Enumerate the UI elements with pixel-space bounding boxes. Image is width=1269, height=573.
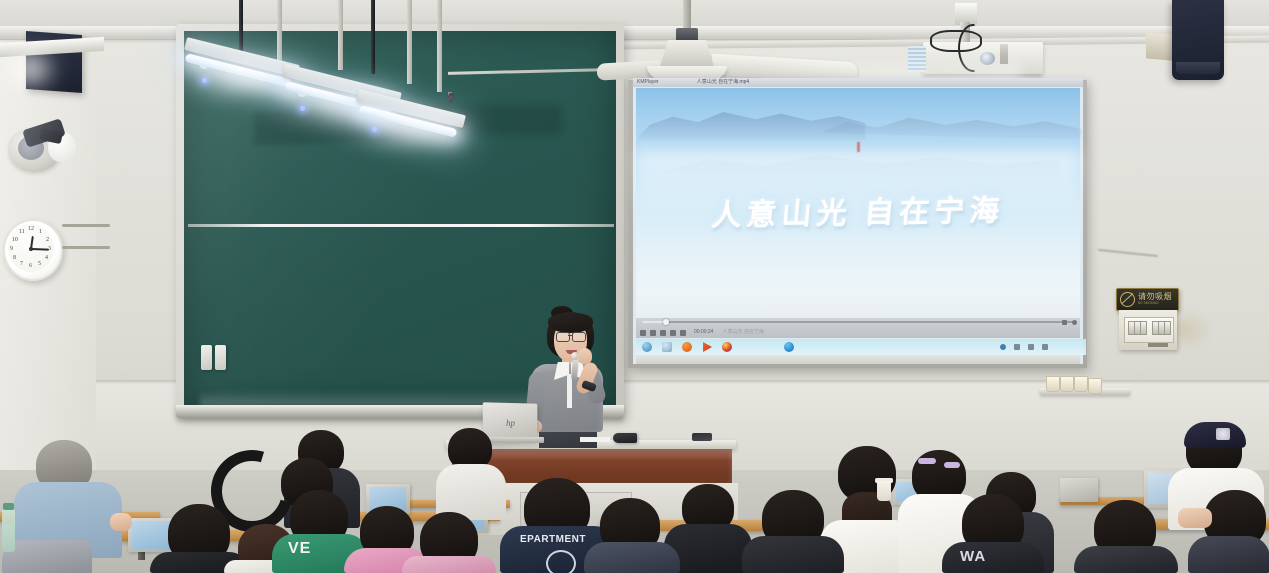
chalk-eraser[interactable] xyxy=(201,345,212,370)
water-bottle-cap xyxy=(3,503,14,510)
student-body-front-6 xyxy=(742,536,844,573)
folder-icon[interactable] xyxy=(1014,344,1020,350)
wall-pipe-lower xyxy=(62,246,110,249)
blackboard-hook xyxy=(448,93,454,102)
player-window-title: 人意山光 自在宁海.mp4 xyxy=(697,80,750,85)
student-laptop-6[interactable] xyxy=(1060,478,1098,502)
electrical-panel-label xyxy=(1148,343,1168,347)
blackboard-divider-line xyxy=(188,224,614,227)
clock-number-11: 11 xyxy=(19,229,25,235)
student-body-front-7 xyxy=(942,542,1044,573)
player-fullscreen-button[interactable] xyxy=(1062,320,1067,325)
wall-pipe-upper xyxy=(62,224,110,227)
no-smoking-icon xyxy=(1120,292,1135,307)
ceiling-fan-mount xyxy=(676,28,698,42)
shelf-cup-2 xyxy=(1060,376,1074,392)
chrome-icon[interactable] xyxy=(722,342,732,352)
shelf-cup-1 xyxy=(1046,376,1060,392)
slide-calligraphy-title: 人意山光 自在宁海 xyxy=(633,186,1083,234)
lamp-rod-4 xyxy=(437,0,442,92)
player-stop-button[interactable] xyxy=(650,330,656,336)
clock-tray-icon[interactable] xyxy=(1042,344,1048,350)
student-bag-elder xyxy=(2,540,92,573)
podium-smartphone[interactable] xyxy=(692,433,712,441)
projector-cable-loop xyxy=(930,30,982,52)
chalk-eraser-secondary[interactable] xyxy=(215,345,226,370)
clock-number-9: 9 xyxy=(10,246,13,252)
lamp-pole-2 xyxy=(371,0,375,74)
clock-number-6: 6 xyxy=(29,263,32,269)
student-hand-elder xyxy=(110,513,132,531)
student-body-front-4 xyxy=(402,556,496,573)
teacher-hair-fringe xyxy=(548,313,593,333)
player-app-name: KMPlayer xyxy=(637,80,659,85)
start-orb-icon[interactable] xyxy=(642,342,652,352)
water-bottle xyxy=(2,508,15,552)
podium-highlight xyxy=(452,449,732,461)
player-seek-handle[interactable] xyxy=(663,319,669,325)
student-body-front-9 xyxy=(1188,536,1269,573)
teacher-glasses-bridge xyxy=(568,335,572,336)
lamp-rod-2 xyxy=(338,0,343,70)
teacher-hand-right xyxy=(578,348,592,364)
clock-number-7: 7 xyxy=(20,261,23,267)
green-tee-print: VE xyxy=(288,540,311,558)
player-settings-button[interactable] xyxy=(1072,320,1077,325)
student-hand-right-edge xyxy=(1178,508,1212,528)
firefox-icon[interactable] xyxy=(682,342,692,352)
hair-clip-1 xyxy=(918,458,936,464)
clock-number-4: 4 xyxy=(45,255,48,261)
clock-number-12: 12 xyxy=(28,226,34,232)
no-smoking-sign: 请勿吸烟 NO SMOKING xyxy=(1116,288,1179,311)
player-buttons-row: 00:00:24 人意山光 自在宁海 xyxy=(640,328,1080,337)
clock-center-pin xyxy=(29,247,33,251)
student-body-front-8 xyxy=(1074,546,1178,573)
taskbar-system-tray[interactable] xyxy=(1000,341,1078,353)
teacher-glasses-right-lens xyxy=(572,332,586,342)
student-cap-icon xyxy=(1184,422,1246,448)
clock-number-10: 10 xyxy=(12,237,18,243)
shelf-cup-3 xyxy=(1074,376,1088,392)
navy-tee-emblem xyxy=(546,550,576,573)
podium-mouse[interactable] xyxy=(613,433,637,443)
player-mute-button[interactable] xyxy=(680,330,686,336)
player-seek-track[interactable] xyxy=(642,321,1074,323)
player-previous-button[interactable] xyxy=(660,330,666,336)
cap-logo xyxy=(1216,428,1230,440)
player-time-label: 00:00:24 xyxy=(694,330,713,335)
lamp-rod-1 xyxy=(277,0,282,66)
dark-tee-print: WA xyxy=(960,548,986,565)
no-smoking-label-zh: 请勿吸烟 xyxy=(1138,293,1172,301)
wall-speaker-grille xyxy=(1176,62,1220,74)
podium-papers xyxy=(580,437,610,442)
volume-icon[interactable] xyxy=(1028,344,1034,350)
clock-number-1: 1 xyxy=(39,229,42,235)
clock-number-2: 2 xyxy=(46,237,49,243)
player-next-button[interactable] xyxy=(670,330,676,336)
slide-title-text: 人意山光 自在宁海 xyxy=(710,185,1007,234)
student-body-front-5 xyxy=(584,542,680,573)
lamp-rod-3 xyxy=(407,0,412,84)
classroom-scene: 12 1 2 3 4 5 6 7 8 9 10 11 xyxy=(0,0,1269,573)
navy-tee-print: EPARTMENT xyxy=(520,534,586,545)
player-track-label: 人意山光 自在宁海 xyxy=(722,330,763,335)
breaker-switch-3[interactable] xyxy=(1140,321,1147,335)
player-window-titlebar[interactable]: KMPlayer 人意山光 自在宁海.mp4 xyxy=(633,78,1083,87)
breaker-switch-6[interactable] xyxy=(1164,321,1171,335)
clock-number-8: 8 xyxy=(13,255,16,261)
network-icon[interactable] xyxy=(1000,344,1006,350)
player-icon[interactable] xyxy=(702,342,712,352)
projector-knob xyxy=(1000,44,1008,64)
edge-icon[interactable] xyxy=(784,342,794,352)
no-smoking-label-en: NO SMOKING xyxy=(1138,302,1172,305)
media-player-icon[interactable] xyxy=(662,342,672,352)
clock-number-5: 5 xyxy=(38,261,41,267)
teacher-glasses-left-lens xyxy=(556,332,570,342)
board-lamp-glow-3 xyxy=(354,110,478,148)
hair-clip-2 xyxy=(944,462,960,468)
laptop-brand-logo: hp xyxy=(506,418,515,428)
coffee-cup xyxy=(877,481,891,501)
window-glare-left xyxy=(0,44,60,94)
player-pause-button[interactable] xyxy=(640,330,646,336)
screen-lower-bezel xyxy=(636,355,1080,364)
video-red-marker xyxy=(857,142,860,152)
shelf-cup-4 xyxy=(1088,378,1102,394)
